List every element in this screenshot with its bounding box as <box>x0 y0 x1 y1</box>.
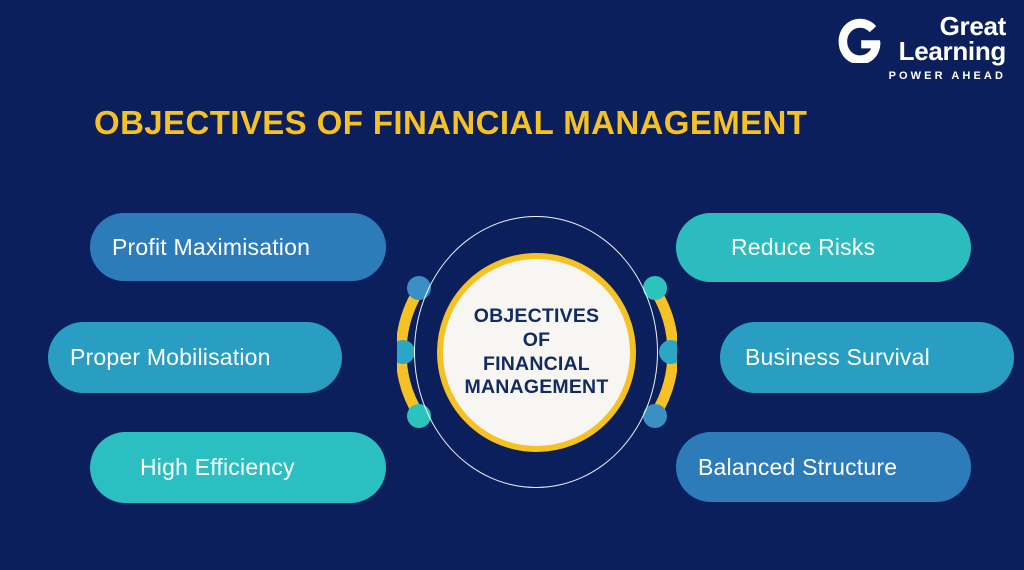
infographic-canvas: Great Learning POWER AHEAD OBJECTIVES OF… <box>0 0 1024 570</box>
objective-pill-label: Reduce Risks <box>731 234 875 261</box>
objective-pill-high-efficiency[interactable]: High Efficiency <box>90 432 386 503</box>
objective-pill-label: Proper Mobilisation <box>70 344 271 371</box>
logo-wordmark: Great Learning POWER AHEAD <box>889 14 1006 82</box>
hub-label: OBJECTIVESOFFINANCIALMANAGEMENT <box>465 305 609 400</box>
objective-pill-label: Profit Maximisation <box>112 234 310 261</box>
objective-pill-proper-mobilisation[interactable]: Proper Mobilisation <box>48 322 342 393</box>
connector-dot-right-middle <box>659 340 677 364</box>
objective-pill-balanced-structure[interactable]: Balanced Structure <box>676 432 971 502</box>
objective-pill-business-survival[interactable]: Business Survival <box>720 322 1014 393</box>
center-hub: OBJECTIVESOFFINANCIALMANAGEMENT <box>397 200 677 505</box>
objective-pill-label: Business Survival <box>745 344 930 371</box>
objective-pill-label: Balanced Structure <box>698 454 897 481</box>
great-learning-logo: Great Learning POWER AHEAD <box>838 14 1006 82</box>
hub-disc: OBJECTIVESOFFINANCIALMANAGEMENT <box>437 253 636 452</box>
logo-line-learning: Learning <box>899 39 1006 64</box>
objective-pill-profit-maximisation[interactable]: Profit Maximisation <box>90 213 386 281</box>
logo-tagline: POWER AHEAD <box>889 70 1006 82</box>
objective-pill-reduce-risks[interactable]: Reduce Risks <box>676 213 971 282</box>
objective-pill-label: High Efficiency <box>140 454 295 481</box>
connector-dot-left-middle <box>397 340 415 364</box>
page-title: OBJECTIVES OF FINANCIAL MANAGEMENT <box>94 104 807 142</box>
logo-g-mark <box>838 17 882 63</box>
